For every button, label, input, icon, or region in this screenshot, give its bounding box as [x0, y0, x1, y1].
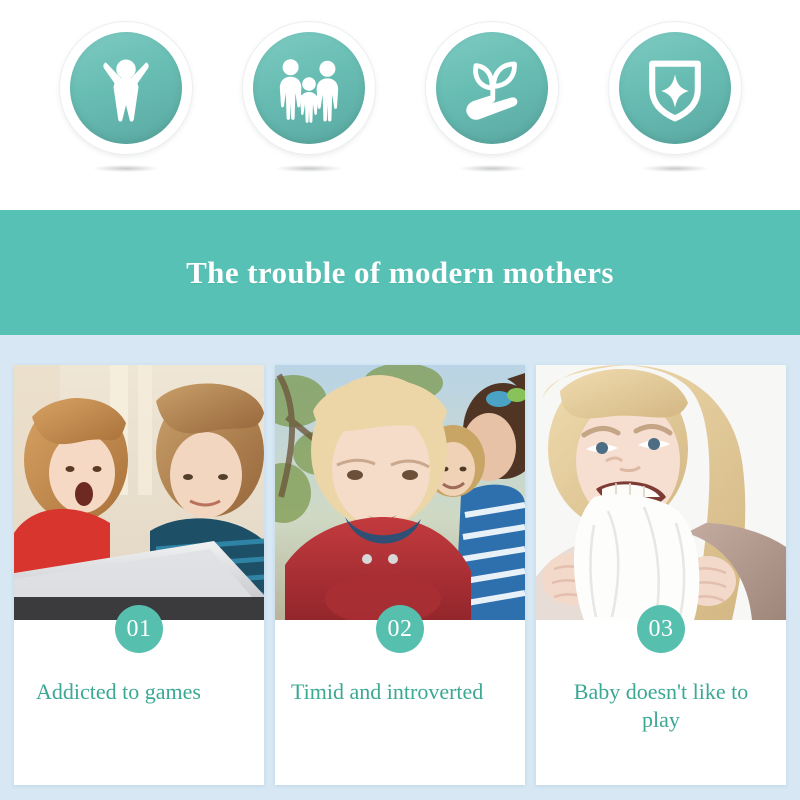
icon-drop-shadow — [643, 165, 707, 172]
card-number-badge: 02 — [376, 605, 424, 653]
card-02[interactable]: 02 Timid and introverted — [275, 365, 525, 785]
cards-section: 01 Addicted to games — [0, 335, 800, 800]
card-label: Timid and introverted — [291, 678, 507, 706]
banner: The trouble of modern mothers — [0, 210, 800, 335]
icon-ring — [426, 22, 558, 154]
icon-cell-shield-sparkle[interactable] — [602, 22, 747, 192]
card-01[interactable]: 01 Addicted to games — [14, 365, 264, 785]
icon-drop-shadow — [460, 165, 524, 172]
icon-ring — [60, 22, 192, 154]
card-label: Addicted to games — [36, 678, 246, 706]
icon-cell-family-group[interactable] — [236, 22, 381, 192]
card-photo-timid-and-introverted — [275, 365, 525, 620]
icon-cell-hand-holding-sprout[interactable] — [419, 22, 564, 192]
icon-ring — [609, 22, 741, 154]
icon-cell-child-arms-raised[interactable] — [53, 22, 198, 192]
icon-drop-shadow — [277, 165, 341, 172]
card-photo-addicted-to-games — [14, 365, 264, 620]
card-label: Baby doesn't like to play — [554, 678, 768, 733]
page-title: The trouble of modern mothers — [186, 255, 614, 291]
header-icon-strip — [0, 0, 800, 210]
card-photo-baby-doesnt-like-to-play — [536, 365, 786, 620]
card-03[interactable]: 03 Baby doesn't like to play — [536, 365, 786, 785]
shield-sparkle-icon — [619, 32, 731, 144]
card-number-badge: 01 — [115, 605, 163, 653]
family-group-icon — [253, 32, 365, 144]
hand-holding-sprout-icon — [436, 32, 548, 144]
poster-page: The trouble of modern mothers — [0, 0, 800, 800]
icon-ring — [243, 22, 375, 154]
icon-drop-shadow — [94, 165, 158, 172]
card-number-badge: 03 — [637, 605, 685, 653]
child-arms-raised-icon — [70, 32, 182, 144]
